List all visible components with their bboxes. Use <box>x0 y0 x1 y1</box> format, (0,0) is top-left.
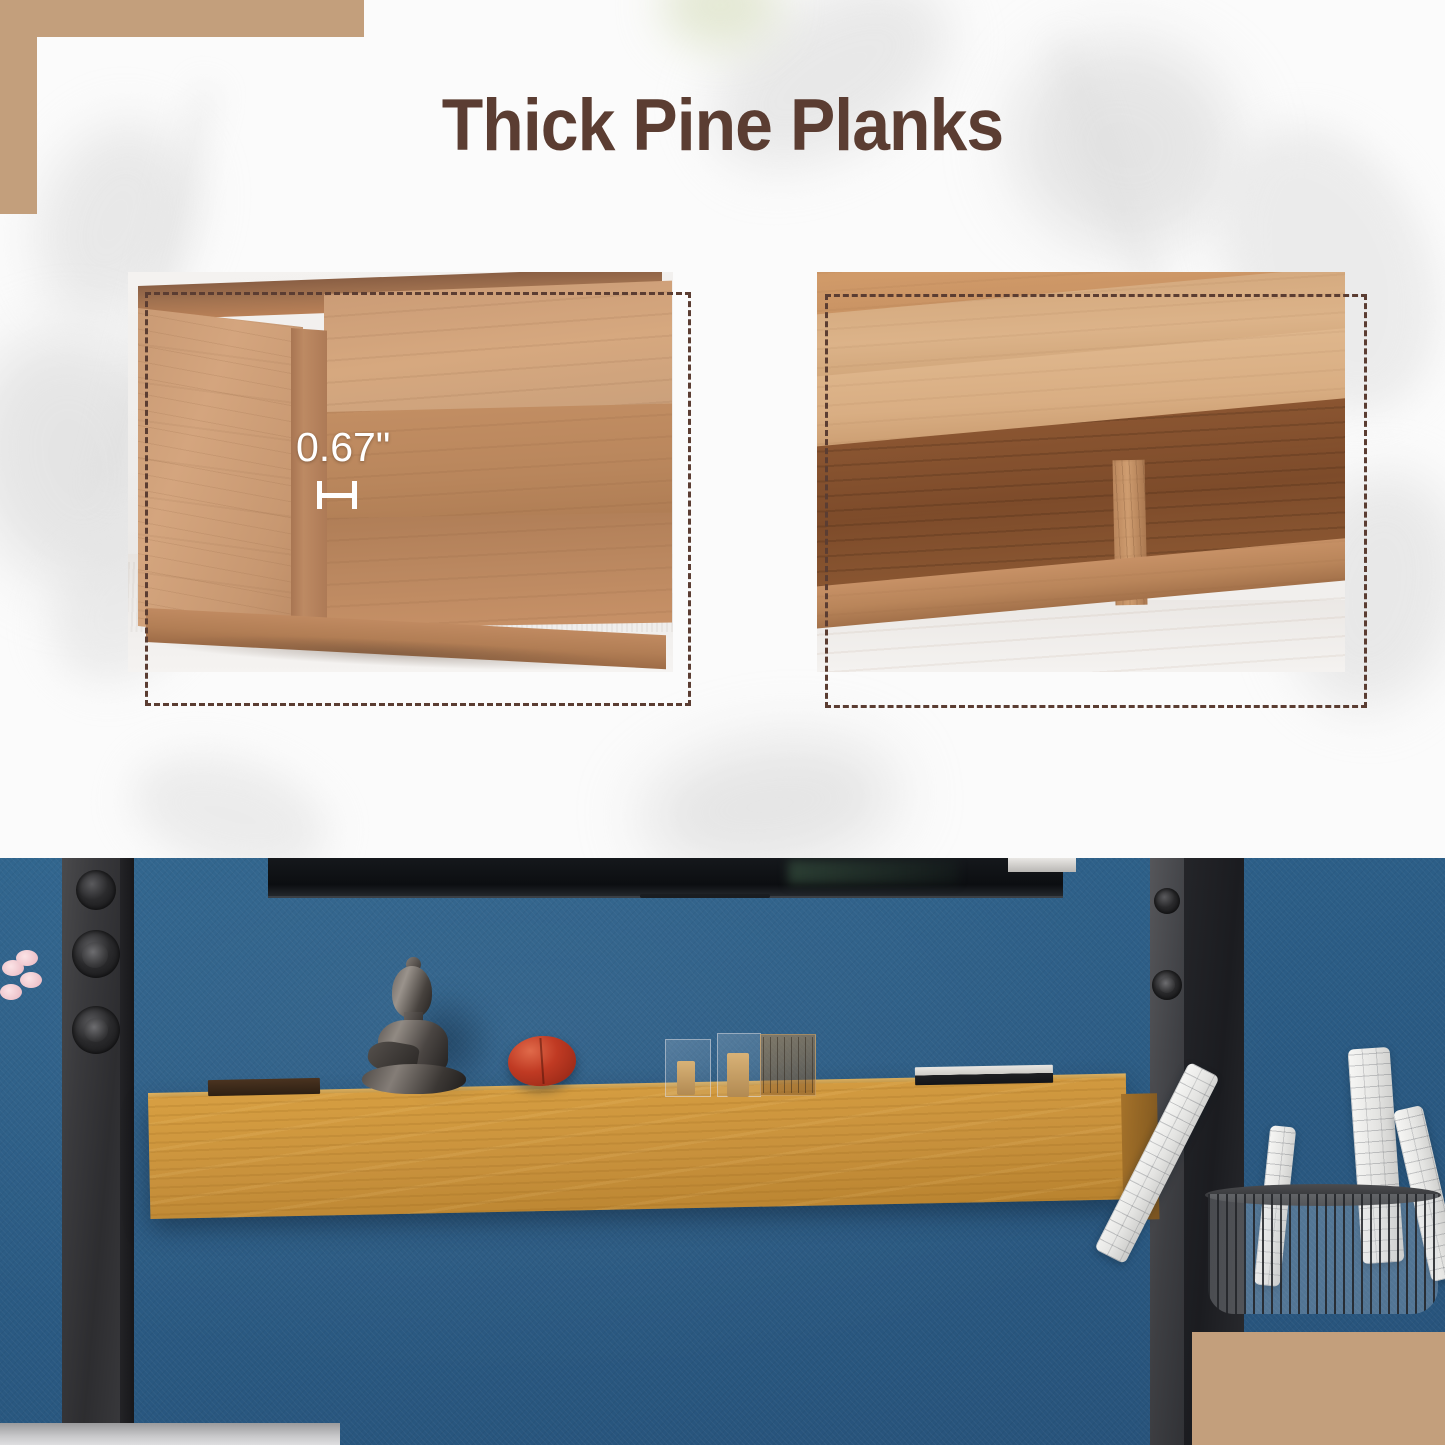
glass-lantern <box>760 1034 816 1096</box>
tv-cable <box>640 894 770 898</box>
feature-panel-thickened-plank: 0.67" 0.67" Thickened Plank <box>128 272 673 672</box>
speaker-tower-edge <box>120 858 134 1445</box>
statue-head <box>392 966 432 1018</box>
flower-decor <box>0 950 52 1012</box>
speaker-driver-icon <box>1159 977 1175 993</box>
wall-frame-edge <box>1008 858 1076 872</box>
statue-base <box>362 1064 466 1094</box>
flower-petal <box>16 950 38 966</box>
floor-baseboard <box>0 1423 340 1445</box>
wire-basket <box>1208 1194 1438 1314</box>
lantern-lattice <box>763 1037 813 1093</box>
tv-screen <box>268 858 1063 898</box>
book-stack-right <box>915 1065 1053 1086</box>
corner-block-bottom-right <box>1192 1332 1445 1445</box>
dashed-highlight-outline <box>145 292 691 706</box>
candle <box>677 1061 695 1095</box>
corner-bracket-horizontal <box>0 0 364 37</box>
speaker-driver-icon <box>1154 888 1180 914</box>
book-stack-left <box>208 1078 320 1096</box>
flower-petal <box>20 972 42 988</box>
infographic-page: Thick Pine Planks <box>0 0 1445 1445</box>
leaf-shadow-decor <box>119 735 342 858</box>
feature-panel-support-bar: Support Bar in Middle <box>817 272 1345 672</box>
feature-section: Thick Pine Planks <box>0 0 1445 858</box>
speaker-driver-icon <box>82 942 108 968</box>
floating-shelf <box>148 1077 1128 1219</box>
page-title: Thick Pine Planks <box>51 84 1395 167</box>
speaker-driver-icon <box>84 1018 108 1042</box>
tv-reflection <box>788 860 958 884</box>
candle <box>727 1053 749 1097</box>
wood-grain <box>148 1077 1128 1219</box>
leaf-shadow-decor <box>632 723 908 858</box>
speaker-driver-icon <box>76 870 116 910</box>
corner-bracket-vertical <box>0 0 37 214</box>
flower-petal <box>0 984 22 1000</box>
buddha-statue <box>350 966 478 1094</box>
dashed-highlight-outline <box>825 294 1367 708</box>
